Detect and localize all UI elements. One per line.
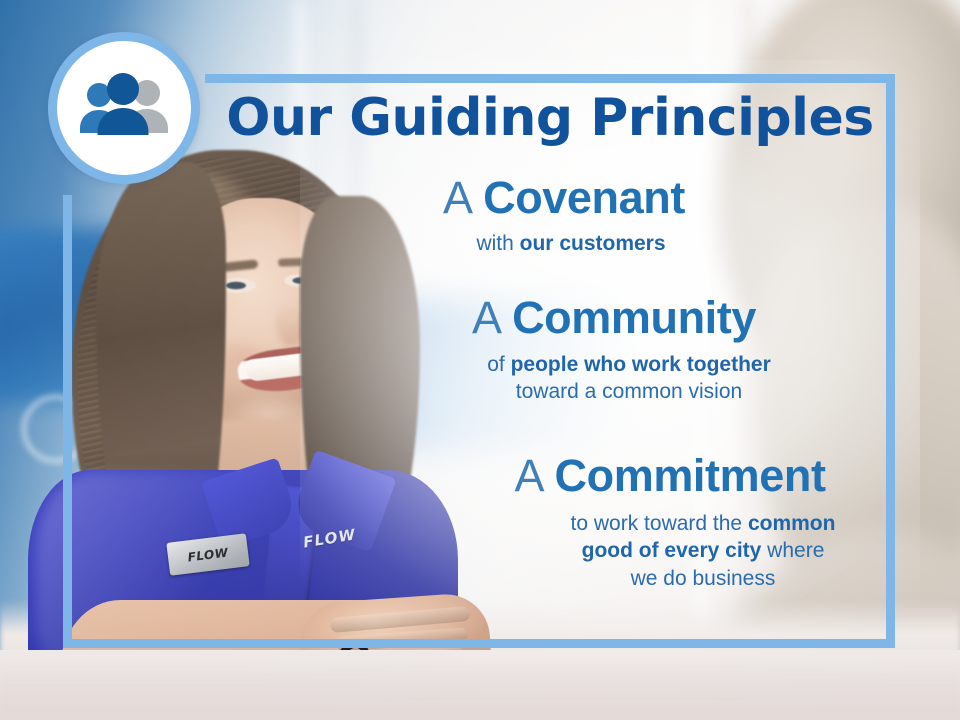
subtext-line: we do business [511, 565, 895, 593]
principle-article: A [472, 292, 500, 343]
frame-border-left [63, 195, 72, 648]
subtext-bold: good of every city [582, 539, 762, 562]
principle-heading: A Community [205, 294, 895, 342]
principle-subtext: to work toward the common good of every … [205, 510, 895, 593]
subtext-line: with our customers [476, 232, 665, 255]
principle-article: A [514, 450, 542, 501]
page-title: Our Guiding Principles [217, 92, 883, 144]
subtext-line: of people who work together [363, 351, 895, 379]
principle-article: A [443, 172, 471, 223]
principle-keyword: Community [512, 292, 756, 343]
poster-canvas: FLOW FLOW Our Guiding P [0, 0, 960, 720]
subtext-plain: with [476, 232, 519, 255]
people-badge [48, 32, 200, 184]
subtext-bold: people who work together [511, 353, 771, 376]
principle-keyword: Covenant [483, 172, 685, 223]
principle-covenant: A Covenant with our customers [205, 174, 895, 257]
subtext-plain: of [487, 353, 510, 376]
subtext-bold: common [748, 512, 836, 535]
principle-commitment: A Commitment to work toward the common g… [205, 452, 895, 593]
subtext-line: good of every city where [511, 537, 895, 565]
desk-shadow [0, 668, 960, 720]
principle-subtext: with our customers [205, 230, 895, 258]
subtext-line: to work toward the common [511, 510, 895, 538]
principle-community: A Community of people who work together … [205, 294, 895, 406]
principle-keyword: Commitment [555, 450, 826, 501]
subtext-plain: to work toward the [571, 512, 748, 535]
subtext-line: toward a common vision [363, 378, 895, 406]
principle-heading: A Commitment [205, 452, 895, 500]
subtext-plain: where [761, 539, 824, 562]
principle-heading: A Covenant [205, 174, 895, 222]
subtext-bold: our customers [520, 232, 666, 255]
text-content: Our Guiding Principles A Covenant with o… [205, 74, 895, 648]
principle-subtext: of people who work together toward a com… [205, 351, 895, 406]
people-group-icon [72, 73, 176, 143]
